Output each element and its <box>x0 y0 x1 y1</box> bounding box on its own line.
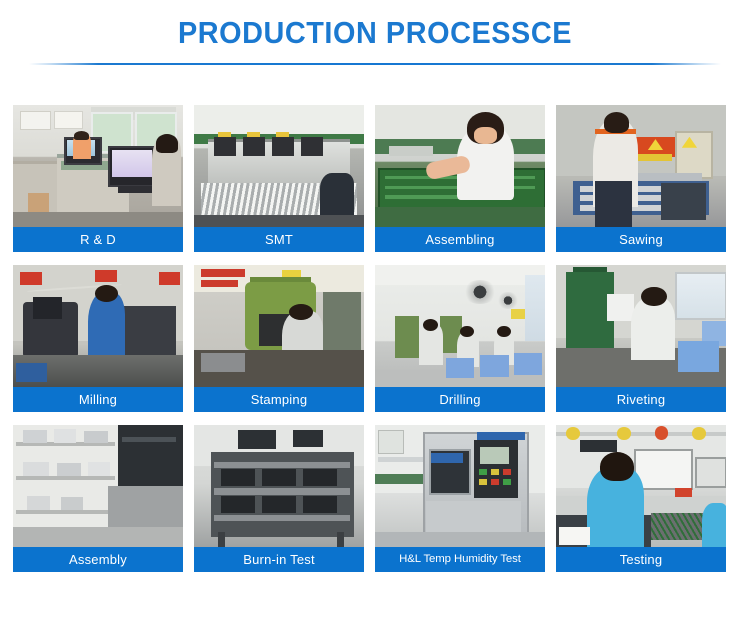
photo-smt-line <box>194 105 364 227</box>
process-label-riveting: Riveting <box>556 387 726 412</box>
photo-testing <box>556 425 726 547</box>
process-label-smt: SMT <box>194 227 364 252</box>
photo-assembly <box>13 425 183 547</box>
photo-stamping <box>194 265 364 387</box>
photo-drilling <box>375 265 545 387</box>
process-row: R & D SMT Assembling <box>13 105 737 252</box>
photo-research-and-development <box>13 105 183 227</box>
process-cell-temp-humidity-test[interactable]: H&L Temp Humidity Test <box>375 425 545 572</box>
photo-assembling <box>375 105 545 227</box>
process-label-milling: Milling <box>13 387 183 412</box>
process-label-stamping: Stamping <box>194 387 364 412</box>
process-label-testing: Testing <box>556 547 726 572</box>
process-cell-burn-in-test[interactable]: Burn-in Test <box>194 425 364 572</box>
process-cell-stamping[interactable]: Stamping <box>194 265 364 412</box>
process-cell-sawing[interactable]: Sawing <box>556 105 726 252</box>
process-row: Milling Stamping <box>13 265 737 412</box>
process-label-sawing: Sawing <box>556 227 726 252</box>
process-cell-assembly[interactable]: Assembly <box>13 425 183 572</box>
process-cell-assembling[interactable]: Assembling <box>375 105 545 252</box>
process-row: Assembly Burn-in Test <box>13 425 737 572</box>
process-label-assembly: Assembly <box>13 547 183 572</box>
process-cell-riveting[interactable]: Riveting <box>556 265 726 412</box>
process-grid: R & D SMT Assembling <box>13 105 737 585</box>
process-cell-drilling[interactable]: Drilling <box>375 265 545 412</box>
process-label-assembling: Assembling <box>375 227 545 252</box>
process-label-drilling: Drilling <box>375 387 545 412</box>
process-label-rd: R & D <box>13 227 183 252</box>
photo-temp-humidity-chamber <box>375 425 545 547</box>
process-label-burn-in-test: Burn-in Test <box>194 547 364 572</box>
page-title: PRODUCTION PROCESSCE <box>26 16 724 50</box>
photo-milling <box>13 265 183 387</box>
process-cell-smt[interactable]: SMT <box>194 105 364 252</box>
photo-burn-in-test <box>194 425 364 547</box>
process-cell-rd[interactable]: R & D <box>13 105 183 252</box>
title-divider <box>29 63 721 65</box>
process-label-temp-humidity-test: H&L Temp Humidity Test <box>375 547 545 572</box>
page-header: PRODUCTION PROCESSCE <box>0 0 750 65</box>
photo-sawing <box>556 105 726 227</box>
photo-riveting <box>556 265 726 387</box>
process-cell-milling[interactable]: Milling <box>13 265 183 412</box>
process-cell-testing[interactable]: Testing <box>556 425 726 572</box>
